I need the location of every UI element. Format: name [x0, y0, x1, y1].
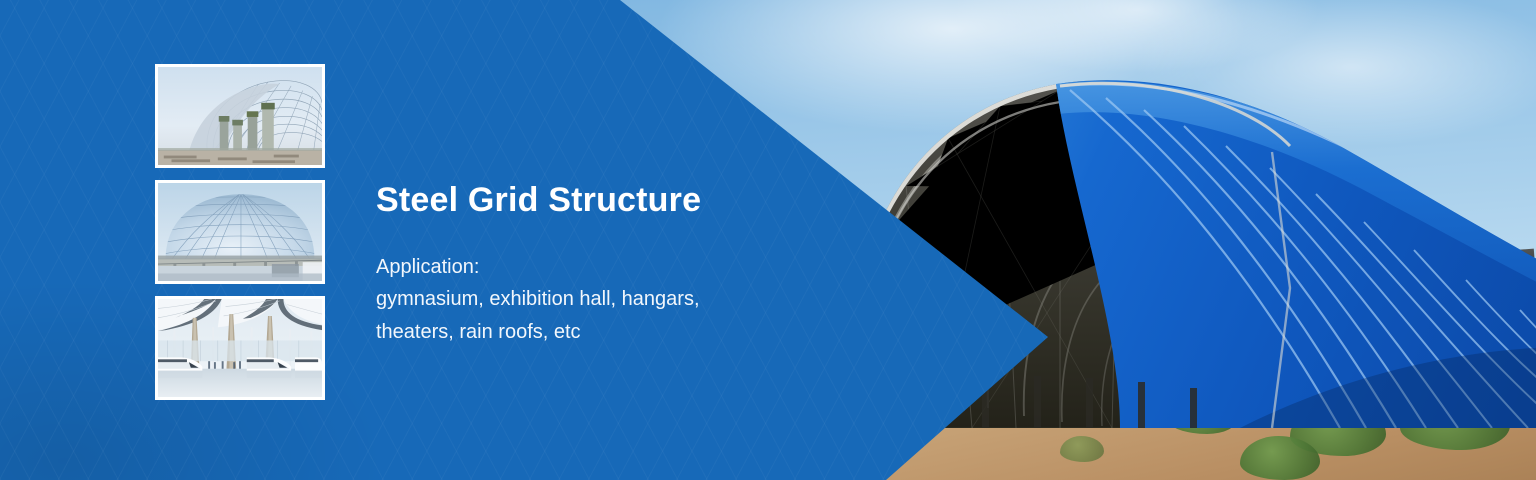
page-title: Steel Grid Structure: [376, 180, 701, 221]
application-line-1: gymnasium, exhibition hall, hangars,: [376, 283, 701, 315]
thumbnail-strip: [155, 64, 325, 400]
thumbnail-railway-station-canopy[interactable]: [155, 296, 325, 400]
application-line-2: theaters, rain roofs, etc: [376, 316, 701, 348]
vegetation-clump: [1240, 436, 1320, 480]
steel-grid-structure-banner: Steel Grid Structure Application: gymnas…: [0, 0, 1536, 480]
thumbnail-dome-grid-under-construction[interactable]: [155, 64, 325, 168]
application-label: Application:: [376, 251, 701, 283]
vegetation-clump: [1060, 436, 1104, 462]
banner-copy: Steel Grid Structure Application: gymnas…: [376, 180, 701, 348]
thumbnail-glass-steel-dome[interactable]: [155, 180, 325, 284]
